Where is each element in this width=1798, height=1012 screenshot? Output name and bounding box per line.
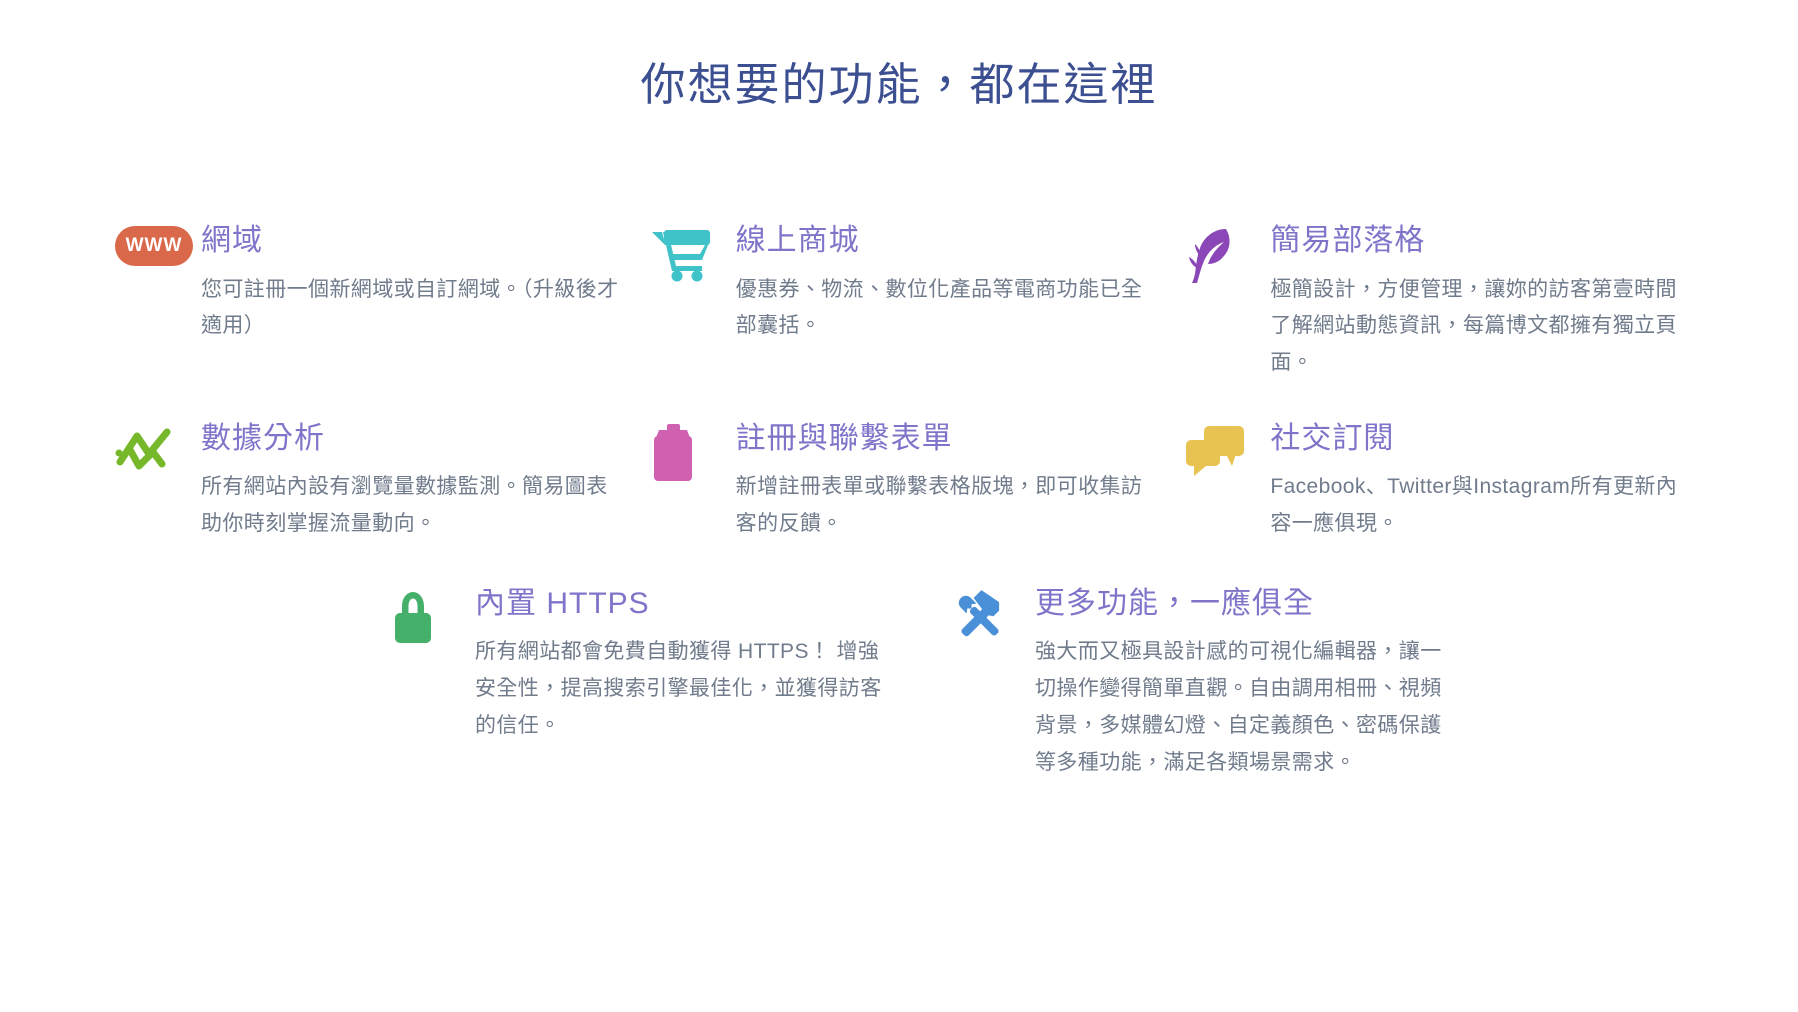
feature-description: 強大而又極具設計感的可視化編輯器，讓一切操作變得簡單直觀。自由調用相冊、視頻背景… xyxy=(1035,634,1450,781)
feature-description: 優惠券、物流、數位化產品等電商功能已全部囊括。 xyxy=(736,272,1156,346)
clipboard-icon xyxy=(650,420,736,482)
feature-description: 所有網站內設有瀏覽量數據監測。簡易圖表助你時刻掌握流量動向。 xyxy=(201,469,621,543)
feature-description: 極簡設計，方便管理，讓妳的訪客第壹時間了解網站動態資訊，每篇博文都擁有獨立頁面。 xyxy=(1270,272,1690,382)
feature-title: 內置 HTTPS xyxy=(475,585,935,623)
feature-item-more-features[interactable]: 更多功能，一應俱全 強大而又極具設計感的可視化編輯器，讓一切操作變得簡單直觀。自… xyxy=(949,585,1509,782)
feature-description: 您可註冊一個新網域或自訂網域。（升級後才適用） xyxy=(201,272,621,346)
feature-row: WWW 網域 您可註冊一個新網域或自訂網域。（升級後才適用） xyxy=(79,222,1719,382)
feature-description: 所有網站都會免費自動獲得 HTTPS！ 增強安全性，提高搜索引擎最佳化，並獲得訪… xyxy=(475,634,890,744)
feature-item-online-store[interactable]: 線上商城 優惠券、物流、數位化產品等電商功能已全部囊括。 xyxy=(650,222,1185,382)
feature-title: 網域 xyxy=(201,222,636,260)
feature-body: 社交訂閱 Facebook、Twitter與Instagram所有更新內容一應俱… xyxy=(1270,420,1705,543)
www-icon: WWW xyxy=(115,222,201,284)
feature-item-https[interactable]: 內置 HTTPS 所有網站都會免費自動獲得 HTTPS！ 增強安全性，提高搜索引… xyxy=(389,585,949,782)
feature-body: 網域 您可註冊一個新網域或自訂網域。（升級後才適用） xyxy=(201,222,636,345)
feature-body: 註冊與聯繫表單 新增註冊表單或聯繫表格版塊，即可收集訪客的反饋。 xyxy=(736,420,1171,543)
feature-title: 線上商城 xyxy=(736,222,1171,260)
feature-item-domain[interactable]: WWW 網域 您可註冊一個新網域或自訂網域。（升級後才適用） xyxy=(115,222,650,382)
feature-title: 數據分析 xyxy=(201,420,636,458)
feature-body: 數據分析 所有網站內設有瀏覽量數據監測。簡易圖表助你時刻掌握流量動向。 xyxy=(201,420,636,543)
feature-body: 線上商城 優惠券、物流、數位化產品等電商功能已全部囊括。 xyxy=(736,222,1171,345)
chat-bubbles-icon xyxy=(1184,420,1270,482)
feature-item-analytics[interactable]: 數據分析 所有網站內設有瀏覽量數據監測。簡易圖表助你時刻掌握流量動向。 xyxy=(115,420,650,543)
padlock-icon xyxy=(389,585,475,647)
feature-item-forms[interactable]: 註冊與聯繫表單 新增註冊表單或聯繫表格版塊，即可收集訪客的反饋。 xyxy=(650,420,1185,543)
feature-item-blog[interactable]: 簡易部落格 極簡設計，方便管理，讓妳的訪客第壹時間了解網站動態資訊，每篇博文都擁… xyxy=(1184,222,1719,382)
feature-body: 簡易部落格 極簡設計，方便管理，讓妳的訪客第壹時間了解網站動態資訊，每篇博文都擁… xyxy=(1270,222,1705,382)
feature-title: 簡易部落格 xyxy=(1270,222,1705,260)
feature-row: 內置 HTTPS 所有網站都會免費自動獲得 HTTPS！ 增強安全性，提高搜索引… xyxy=(79,585,1719,782)
feature-body: 更多功能，一應俱全 強大而又極具設計感的可視化編輯器，讓一切操作變得簡單直觀。自… xyxy=(1035,585,1495,782)
feature-description: Facebook、Twitter與Instagram所有更新內容一應俱現。 xyxy=(1270,469,1690,543)
features-grid: WWW 網域 您可註冊一個新網域或自訂網域。（升級後才適用） xyxy=(0,222,1798,781)
feature-body: 內置 HTTPS 所有網站都會免費自動獲得 HTTPS！ 增強安全性，提高搜索引… xyxy=(475,585,935,745)
features-page: 你想要的功能，都在這裡 WWW 網域 您可註冊一個新網域或自訂網域。（升級後才適… xyxy=(0,0,1798,1012)
feature-title: 註冊與聯繫表單 xyxy=(736,420,1171,458)
feature-row: 數據分析 所有網站內設有瀏覽量數據監測。簡易圖表助你時刻掌握流量動向。 註冊與聯… xyxy=(79,420,1719,543)
feather-icon xyxy=(1184,222,1270,284)
shopping-cart-icon xyxy=(650,222,736,284)
page-title: 你想要的功能，都在這裡 xyxy=(0,0,1798,112)
line-chart-icon xyxy=(115,420,201,482)
feature-item-social[interactable]: 社交訂閱 Facebook、Twitter與Instagram所有更新內容一應俱… xyxy=(1184,420,1719,543)
www-icon-label: WWW xyxy=(115,226,193,266)
feature-title: 社交訂閱 xyxy=(1270,420,1705,458)
hammer-wrench-icon xyxy=(949,585,1035,647)
feature-description: 新增註冊表單或聯繫表格版塊，即可收集訪客的反饋。 xyxy=(736,469,1156,543)
feature-title: 更多功能，一應俱全 xyxy=(1035,585,1495,623)
